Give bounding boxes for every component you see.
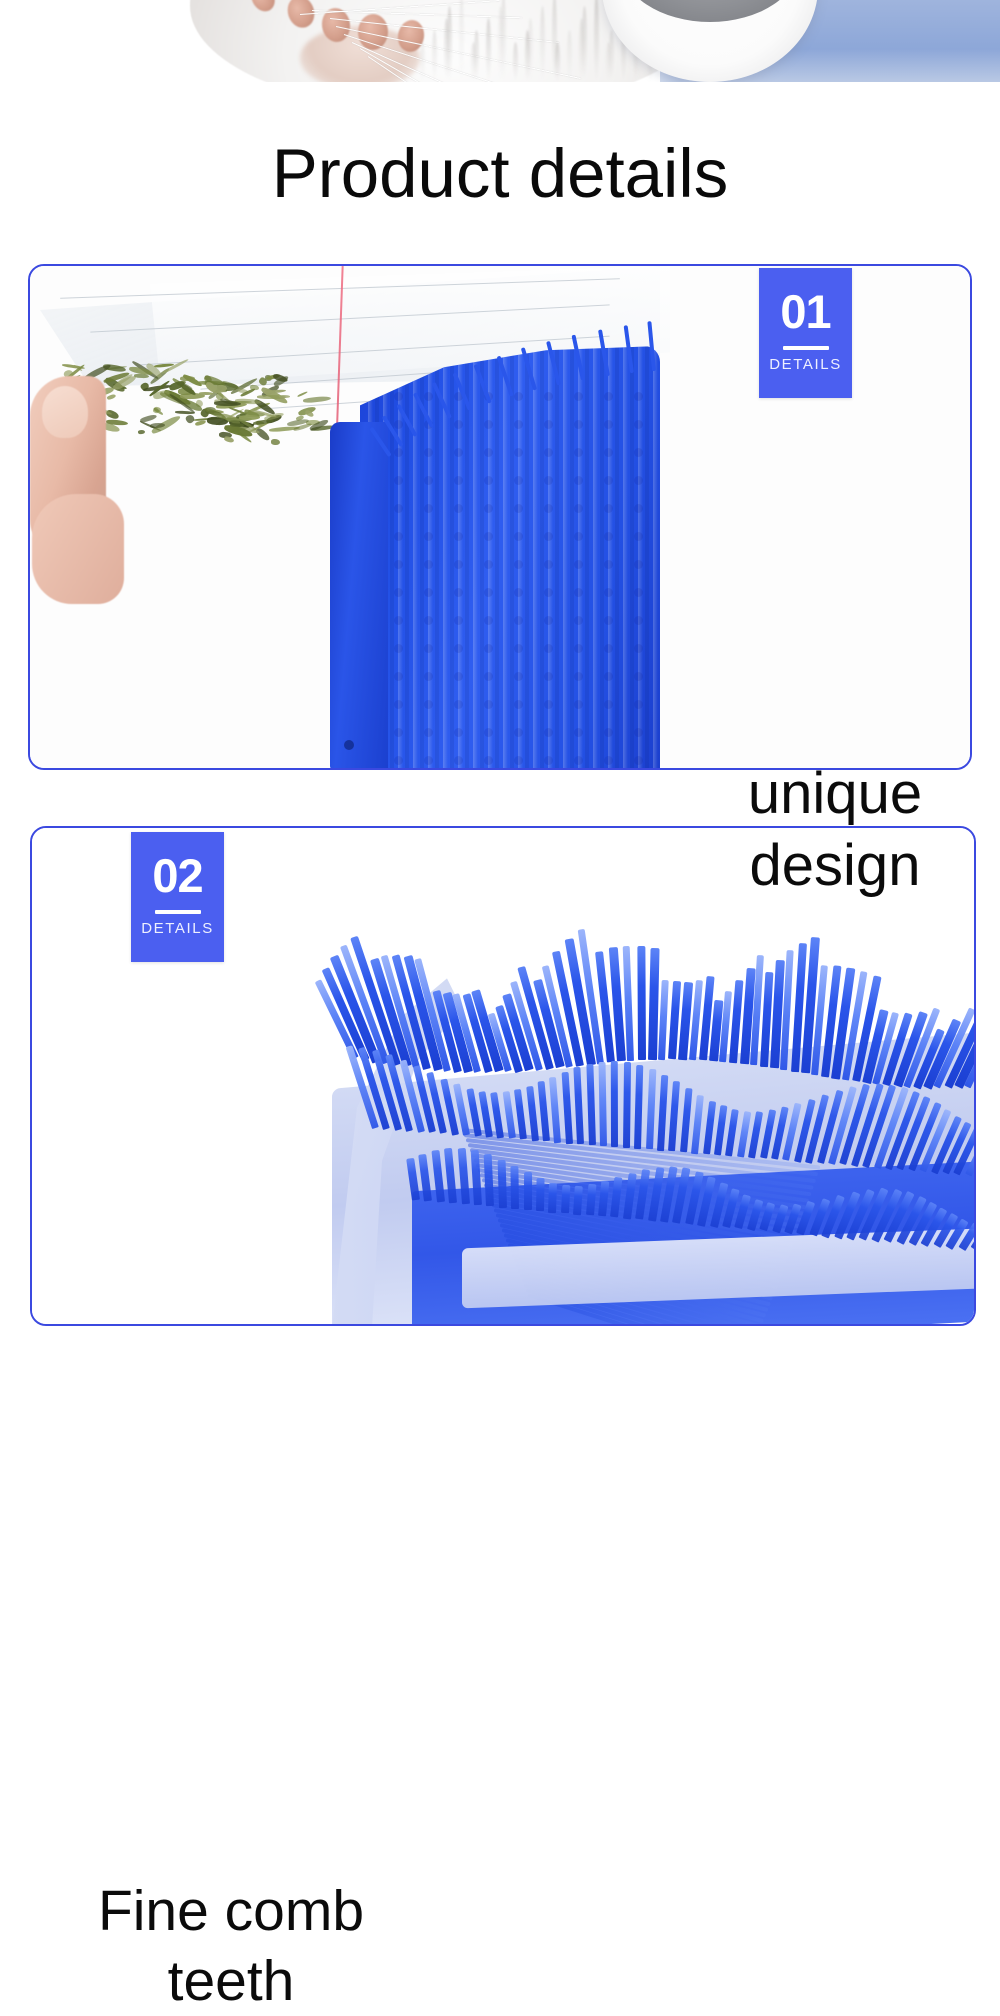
badge-label: DETAILS — [759, 357, 852, 373]
comb-rib-shadow — [645, 346, 649, 768]
catnip-fragment — [230, 423, 244, 427]
page-title: Product details — [0, 134, 1000, 214]
comb-texture-dot — [514, 616, 523, 625]
comb-texture-dot — [454, 700, 463, 709]
comb-texture-dot — [604, 616, 613, 625]
comb-texture-dot — [604, 644, 613, 653]
comb-texture-dot — [634, 560, 643, 569]
comb-texture-dot — [484, 448, 493, 457]
comb-rib-highlight — [533, 346, 538, 768]
comb-texture-dot — [544, 728, 553, 737]
silicone-spike — [658, 980, 669, 1060]
comb-texture-dot — [544, 532, 553, 541]
thumbnail — [42, 386, 88, 438]
comb-texture-dot — [394, 644, 403, 653]
comb-rib-shadow — [525, 346, 529, 768]
comb-texture-dot — [514, 420, 523, 429]
comb-texture-dot — [484, 476, 493, 485]
comb-texture-dot — [514, 644, 523, 653]
comb-texture-dot — [424, 644, 433, 653]
detail-card-01: 01 DETAILS unique design — [28, 264, 972, 770]
comb-texture-dot — [604, 672, 613, 681]
card-02-caption: Fine comb teeth — [66, 1876, 396, 2016]
comb-texture-dot — [574, 616, 583, 625]
comb-texture-dot — [484, 700, 493, 709]
hand-finger — [32, 494, 124, 604]
comb-handle-hole — [344, 740, 354, 750]
fur-streak — [486, 18, 491, 82]
comb-texture-dot — [424, 672, 433, 681]
comb-texture-dot — [394, 476, 403, 485]
silicone-spike — [536, 1178, 545, 1211]
fur-streak — [420, 42, 425, 82]
fur-streak — [540, 6, 545, 82]
comb-texture-dot — [424, 504, 433, 513]
comb-texture-dot — [604, 420, 613, 429]
comb-texture-dot — [544, 672, 553, 681]
comb-texture-dot — [394, 392, 403, 401]
comb-texture-dot — [634, 616, 643, 625]
comb-texture-dot — [484, 728, 493, 737]
comb-texture-dot — [424, 560, 433, 569]
comb-texture-dot — [484, 756, 493, 765]
comb-texture-dot — [634, 476, 643, 485]
comb-texture-dot — [604, 504, 613, 513]
catnip-fragment — [239, 414, 260, 419]
comb-texture-dot — [394, 448, 403, 457]
comb-texture-dot — [484, 560, 493, 569]
catnip-fragment — [279, 395, 290, 398]
comb-body — [360, 346, 660, 768]
fur-streak — [609, 30, 614, 82]
comb-texture-dot — [544, 420, 553, 429]
comb-texture-dot — [454, 504, 463, 513]
comb-texture-dot — [484, 644, 493, 653]
blue-comb-product — [330, 318, 660, 768]
comb-texture-dot — [634, 728, 643, 737]
comb-texture-dot — [454, 672, 463, 681]
comb-texture-dot — [604, 560, 613, 569]
comb-rib-shadow — [435, 346, 439, 768]
comb-texture-dot — [454, 756, 463, 765]
comb-texture-dot — [424, 448, 433, 457]
comb-texture-dot — [484, 504, 493, 513]
comb-texture-dot — [604, 756, 613, 765]
catnip-fragment — [297, 391, 308, 398]
silicone-spike — [623, 1062, 631, 1148]
catnip-fragment — [223, 436, 234, 444]
fur-streak — [528, 18, 533, 82]
comb-texture-dot — [604, 476, 613, 485]
comb-texture-dot — [514, 532, 523, 541]
comb-texture-dot — [394, 588, 403, 597]
comb-texture-dot — [574, 448, 583, 457]
comb-texture-dot — [544, 448, 553, 457]
comb-texture-dot — [634, 448, 643, 457]
comb-rib-shadow — [585, 346, 589, 768]
comb-rib-highlight — [593, 346, 598, 768]
silicone-spike — [497, 1160, 506, 1208]
comb-texture-dot — [424, 756, 433, 765]
comb-texture-dot — [634, 644, 643, 653]
comb-texture-dot — [604, 448, 613, 457]
silicone-spike — [637, 946, 646, 1060]
comb-rib-highlight — [473, 346, 478, 768]
fur-streak — [474, 30, 479, 82]
comb-texture-dot — [514, 672, 523, 681]
catnip-fragment — [106, 393, 116, 400]
badge-label: DETAILS — [131, 921, 224, 937]
comb-texture-dot — [424, 532, 433, 541]
comb-rib-shadow — [495, 346, 499, 768]
comb-texture-dot — [394, 420, 403, 429]
comb-texture-dot — [544, 616, 553, 625]
catnip-fragment — [199, 392, 214, 395]
comb-texture-dot — [544, 700, 553, 709]
comb-texture-dot — [634, 672, 643, 681]
comb-texture-dot — [634, 504, 643, 513]
comb-texture-dot — [634, 756, 643, 765]
comb-texture-dot — [454, 588, 463, 597]
comb-texture-dot — [424, 588, 433, 597]
comb-texture-dot — [544, 756, 553, 765]
fur-streak — [555, 42, 560, 82]
comb-texture-dot — [604, 588, 613, 597]
silicone-spike — [524, 1172, 532, 1210]
comb-rib-highlight — [503, 346, 508, 768]
comb-rib-shadow — [405, 346, 409, 768]
comb-texture-dot — [484, 672, 493, 681]
comb-texture-dot — [484, 588, 493, 597]
comb-texture-dot — [574, 532, 583, 541]
brush-inner-disc — [620, 0, 800, 22]
comb-texture-dot — [394, 560, 403, 569]
fur-streak — [432, 30, 437, 82]
comb-texture-dot — [454, 532, 463, 541]
catnip-fragment — [185, 413, 196, 424]
comb-texture-dot — [634, 700, 643, 709]
silicone-spike — [511, 1166, 520, 1209]
comb-texture-dot — [634, 532, 643, 541]
comb-texture-dot — [544, 476, 553, 485]
badge-number: 02 — [131, 832, 224, 914]
comb-texture-dot — [574, 392, 583, 401]
comb-texture-dot — [544, 392, 553, 401]
comb-texture-dot — [424, 728, 433, 737]
comb-texture-dot — [514, 756, 523, 765]
comb-texture-dot — [634, 588, 643, 597]
comb-texture-dot — [574, 728, 583, 737]
silicone-spike — [648, 948, 660, 1060]
badge-01: 01 DETAILS — [759, 268, 852, 398]
comb-rib-highlight — [413, 346, 418, 768]
catnip-fragment — [271, 439, 280, 445]
comb-texture-dot — [574, 588, 583, 597]
comb-texture-dot — [454, 616, 463, 625]
comb-texture-dot — [604, 392, 613, 401]
comb-texture-dot — [514, 588, 523, 597]
comb-texture-dot — [634, 392, 643, 401]
card-01-caption: unique design — [670, 758, 1000, 902]
comb-texture-dot — [604, 700, 613, 709]
fur-streak — [582, 6, 587, 82]
comb-rib-highlight — [563, 346, 568, 768]
comb-texture-dot — [544, 644, 553, 653]
silicone-spike — [599, 1062, 607, 1147]
fur-streak — [567, 30, 572, 82]
comb-texture-dot — [574, 700, 583, 709]
badge-number: 01 — [759, 268, 852, 350]
comb-texture-dot — [514, 560, 523, 569]
comb-texture-dot — [424, 616, 433, 625]
comb-handle — [330, 422, 388, 768]
silicone-spike — [611, 1061, 618, 1147]
comb-texture-dot — [454, 476, 463, 485]
badge-02: 02 DETAILS — [131, 832, 224, 962]
catnip-fragment — [138, 429, 146, 434]
comb-texture-dot — [604, 728, 613, 737]
comb-texture-dot — [574, 756, 583, 765]
comb-rib-highlight — [653, 346, 658, 768]
comb-texture-dot — [394, 756, 403, 765]
fur-streak — [513, 42, 518, 82]
comb-texture-dot — [634, 420, 643, 429]
comb-texture-dot — [394, 616, 403, 625]
comb-texture-dot — [574, 504, 583, 513]
silicone-spike — [561, 1185, 570, 1213]
comb-texture-dot — [394, 532, 403, 541]
comb-texture-dot — [424, 476, 433, 485]
comb-texture-dot — [514, 700, 523, 709]
comb-texture-dot — [514, 504, 523, 513]
comb-texture-dot — [454, 644, 463, 653]
comb-texture-dot — [454, 448, 463, 457]
comb-texture-dot — [574, 560, 583, 569]
comb-texture-dot — [394, 728, 403, 737]
comb-texture-dot — [394, 700, 403, 709]
comb-texture-dot — [484, 616, 493, 625]
comb-rib-shadow — [555, 346, 559, 768]
comb-rib-shadow — [615, 346, 619, 768]
comb-texture-dot — [484, 420, 493, 429]
comb-texture-dot — [544, 560, 553, 569]
comb-texture-dot — [484, 532, 493, 541]
comb-texture-dot — [544, 504, 553, 513]
comb-texture-dot — [544, 588, 553, 597]
comb-texture-dot — [394, 504, 403, 513]
comb-texture-dot — [574, 672, 583, 681]
header-photo-strip — [0, 0, 1000, 82]
comb-rib-highlight — [623, 346, 628, 768]
comb-texture-dot — [574, 476, 583, 485]
comb-texture-dot — [514, 448, 523, 457]
comb-texture-dot — [454, 420, 463, 429]
comb-texture-dot — [574, 644, 583, 653]
comb-texture-dot — [514, 476, 523, 485]
comb-texture-dot — [574, 420, 583, 429]
comb-texture-dot — [514, 728, 523, 737]
silicone-spike — [548, 1182, 557, 1212]
comb-texture-dot — [604, 532, 613, 541]
comb-texture-dot — [424, 700, 433, 709]
comb-texture-dot — [514, 392, 523, 401]
comb-rib-shadow — [660, 346, 664, 768]
fur-streak — [447, 6, 452, 82]
comb-texture-dot — [424, 392, 433, 401]
comb-texture-dot — [454, 728, 463, 737]
comb-texture-dot — [454, 560, 463, 569]
comb-texture-dot — [394, 672, 403, 681]
